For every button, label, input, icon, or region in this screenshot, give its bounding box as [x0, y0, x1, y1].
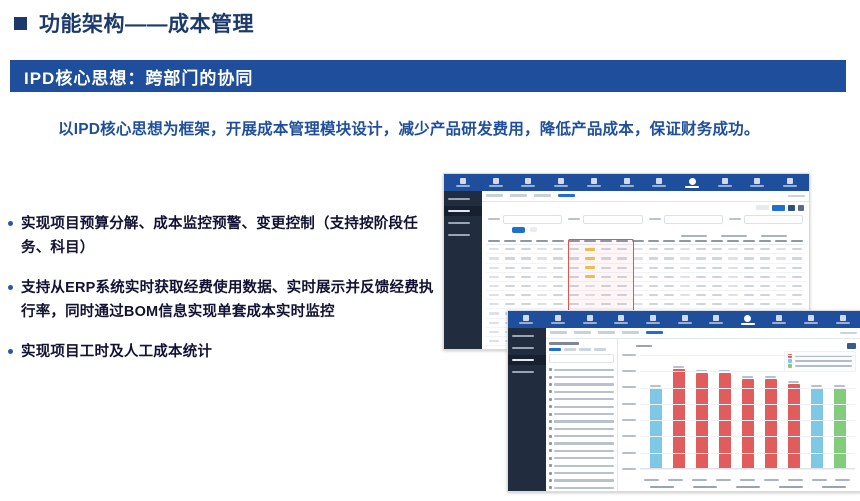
- table-cell: [744, 276, 754, 278]
- filter-input[interactable]: [664, 215, 723, 224]
- tree-item-label: [554, 472, 614, 474]
- table-toolbar: [482, 202, 809, 211]
- table-cell: [664, 267, 674, 269]
- table-cell: [489, 340, 499, 342]
- table-cell: [712, 257, 722, 259]
- table-cell: [760, 303, 770, 305]
- tree-item-label: [554, 435, 614, 437]
- sidebar-item[interactable]: [444, 206, 482, 216]
- table-cell: [585, 275, 595, 278]
- tab[interactable]: [510, 194, 527, 197]
- bar[interactable]: [834, 388, 846, 469]
- table-cell: [680, 267, 690, 269]
- tab[interactable]: [598, 331, 615, 334]
- filter-input[interactable]: [583, 215, 642, 224]
- nav-item[interactable]: [732, 315, 763, 325]
- y-tick-label: [622, 386, 636, 388]
- chart-panel: [618, 339, 860, 491]
- tree-item[interactable]: [549, 366, 614, 373]
- tree-tab[interactable]: [594, 348, 606, 351]
- tree-item-label: [554, 420, 614, 422]
- table-cell: [633, 303, 643, 305]
- tree-item-label: [554, 376, 614, 378]
- tree-item[interactable]: [549, 477, 614, 484]
- tree-item-label: [554, 428, 614, 430]
- table-cell: [760, 267, 770, 269]
- nav-item-label: [521, 185, 535, 187]
- table-cell: [664, 294, 674, 296]
- table-cell: [712, 248, 722, 250]
- bar[interactable]: [765, 379, 777, 469]
- bar-value-label: [650, 385, 661, 387]
- nav-item-label: [489, 185, 503, 187]
- table-cell: [553, 276, 563, 278]
- tree-node-icon: [549, 479, 552, 482]
- nav-item[interactable]: [796, 315, 827, 324]
- column-header: [520, 240, 532, 243]
- table-cell: [776, 303, 786, 305]
- nav-item[interactable]: [606, 315, 637, 324]
- tab[interactable]: [622, 331, 639, 334]
- table-cell: [569, 267, 579, 269]
- reset-button[interactable]: [756, 205, 769, 210]
- tree-item[interactable]: [549, 447, 614, 454]
- tree-node-icon: [549, 420, 552, 423]
- table-cell: [601, 248, 611, 250]
- tree-search-input[interactable]: [549, 354, 614, 363]
- tree-tab[interactable]: [564, 348, 576, 351]
- nav-item[interactable]: [611, 178, 643, 187]
- y-tick-label: [622, 468, 636, 470]
- table-cell: [792, 248, 802, 250]
- table-cell: [601, 294, 611, 296]
- column-header: [536, 240, 548, 243]
- project-tree-panel[interactable]: [546, 339, 618, 491]
- filter-field[interactable]: [568, 215, 642, 224]
- table-cell: [696, 257, 706, 259]
- table-cell: [792, 294, 802, 296]
- x-group-label: [736, 486, 760, 488]
- table-cell: [696, 285, 706, 287]
- column-header: [727, 240, 739, 243]
- app-sidebar: [444, 191, 482, 349]
- nav-item[interactable]: [676, 178, 708, 188]
- table-cell: [696, 267, 706, 269]
- column-header: [584, 240, 596, 243]
- column-header: [648, 240, 660, 243]
- bullet-dot-icon: [8, 285, 13, 290]
- sidebar-item[interactable]: [508, 331, 546, 341]
- sidebar-item[interactable]: [444, 194, 482, 204]
- user-menu-label[interactable]: [840, 332, 857, 335]
- table-cell: [633, 257, 643, 259]
- table-cell: [601, 267, 611, 269]
- table-cell: [712, 276, 722, 278]
- table-cell: [792, 276, 802, 278]
- table-cell: [744, 257, 754, 259]
- tree-item[interactable]: [549, 418, 614, 425]
- table-cell: [696, 294, 706, 296]
- table-row[interactable]: [486, 245, 805, 254]
- table-cell: [696, 248, 706, 250]
- table-cell: [696, 276, 706, 278]
- column-header: [552, 240, 564, 243]
- column-header: [632, 240, 644, 243]
- table-cell: [792, 285, 802, 287]
- sidebar-item[interactable]: [508, 355, 546, 365]
- tree-node-icon: [549, 464, 552, 467]
- sidebar-item-label: [448, 234, 470, 237]
- y-tick-label: [622, 370, 636, 372]
- tree-item[interactable]: [549, 455, 614, 462]
- table-cell: [712, 294, 722, 296]
- table-cell: [760, 257, 770, 259]
- column-group-label: [761, 235, 787, 238]
- table-cell: [537, 257, 547, 259]
- y-tick-label: [622, 452, 636, 454]
- nav-item-icon: [523, 315, 529, 321]
- sidebar-item[interactable]: [444, 230, 482, 240]
- table-cell: [649, 267, 659, 269]
- table-cell: [489, 303, 499, 305]
- table-cell: [569, 303, 579, 305]
- filter-label: [729, 218, 741, 221]
- filter-buttons: [482, 224, 809, 233]
- nav-item-label: [718, 185, 732, 187]
- nav-item[interactable]: [643, 178, 675, 187]
- tab[interactable]: [550, 331, 567, 334]
- column-header: [695, 240, 707, 243]
- table-cell: [585, 285, 595, 287]
- nav-item[interactable]: [764, 315, 795, 324]
- table-cell: [553, 257, 563, 259]
- table-row[interactable]: [486, 300, 805, 309]
- table-cell: [744, 294, 754, 296]
- table-cell: [521, 248, 531, 250]
- sidebar-item[interactable]: [508, 367, 546, 377]
- nav-item[interactable]: [543, 315, 574, 324]
- sidebar-item[interactable]: [508, 343, 546, 353]
- tree-item-label: [554, 383, 614, 385]
- table-cell: [601, 285, 611, 287]
- y-tick-label: [622, 354, 636, 356]
- nav-item-label: [587, 185, 601, 187]
- table-cell: [521, 303, 531, 305]
- tree-panel-title: [549, 342, 579, 345]
- table-cell: [712, 285, 722, 287]
- nav-item[interactable]: [545, 178, 577, 187]
- x-group-label: [693, 486, 717, 488]
- column-header: [504, 240, 516, 243]
- nav-item-icon: [460, 178, 466, 184]
- tab[interactable]: [534, 194, 551, 197]
- nav-item-label: [519, 322, 533, 324]
- nav-item-icon: [787, 178, 793, 184]
- table-cell: [505, 294, 515, 296]
- x-tick-label: [835, 479, 850, 481]
- tab[interactable]: [486, 194, 503, 197]
- tree-node-icon: [549, 405, 552, 408]
- nav-item-icon: [776, 315, 782, 321]
- tree-node-icon: [549, 413, 552, 416]
- nav-item-icon: [558, 178, 564, 184]
- nav-item-icon: [808, 315, 814, 321]
- x-group-label: [650, 486, 674, 488]
- table-cell: [728, 248, 738, 250]
- section-band-text: IPD核心思想：跨部门的协同: [10, 64, 253, 89]
- nav-item[interactable]: [774, 178, 806, 187]
- table-cell: [776, 294, 786, 296]
- nav-item-icon: [525, 178, 531, 184]
- sidebar-item-label: [512, 347, 534, 350]
- table-cell: [633, 294, 643, 296]
- tree-item-label: [554, 457, 614, 459]
- y-tick-label: [622, 435, 636, 437]
- table-cell: [601, 303, 611, 305]
- nav-item-label: [652, 185, 666, 187]
- list-item: 支持从ERP系统实时获取经费使用数据、实时展示并反馈经费执行率，同时通过BOM信…: [8, 276, 438, 324]
- tree-item[interactable]: [549, 469, 614, 476]
- table-cell: [649, 303, 659, 305]
- app-sidebar: [508, 328, 546, 491]
- tree-item[interactable]: [549, 433, 614, 440]
- tree-tab-group[interactable]: [549, 348, 614, 351]
- table-cell: [585, 257, 595, 260]
- column-header: [679, 240, 691, 243]
- nav-item[interactable]: [669, 315, 700, 324]
- table-cell: [776, 285, 786, 287]
- table-cell: [744, 303, 754, 305]
- nav-item-icon: [624, 178, 630, 184]
- filter-field[interactable]: [729, 215, 803, 224]
- nav-item-label: [620, 185, 634, 187]
- table-cell: [537, 276, 547, 278]
- y-axis-label: [636, 345, 652, 348]
- bar[interactable]: [788, 384, 800, 469]
- table-row[interactable]: [486, 291, 805, 300]
- bar[interactable]: [673, 369, 685, 469]
- table-cell: [585, 248, 595, 251]
- slide-root: 功能架构——成本管理 IPD核心思想：跨部门的协同 以IPD核心思想为框架，开展…: [0, 0, 860, 501]
- tree-item[interactable]: [549, 388, 614, 395]
- grid-line: [640, 388, 855, 389]
- tree-item[interactable]: [549, 425, 614, 432]
- tree-node-icon: [549, 457, 552, 460]
- square-bullet-icon: [14, 17, 27, 30]
- tree-item[interactable]: [549, 484, 614, 491]
- table-cell: [521, 257, 531, 259]
- tree-item[interactable]: [549, 381, 614, 388]
- table-cell: [744, 267, 754, 269]
- nav-item-label: [646, 322, 660, 324]
- tab[interactable]: [646, 331, 663, 334]
- filter-input[interactable]: [503, 215, 562, 224]
- table-cell: [585, 303, 595, 305]
- table-cell: [664, 248, 674, 250]
- filter-field[interactable]: [649, 215, 723, 224]
- table-cell: [633, 248, 643, 250]
- bar[interactable]: [811, 388, 823, 469]
- nav-item-label: [614, 322, 628, 324]
- table-cell: [537, 294, 547, 296]
- tab-strip: [482, 191, 809, 202]
- grid-line: [640, 420, 855, 421]
- user-menu-label[interactable]: [788, 195, 805, 198]
- table-cell: [664, 303, 674, 305]
- table-row[interactable]: [486, 254, 805, 263]
- table-cell: [728, 276, 738, 278]
- y-tick-label: [622, 419, 636, 421]
- table-row[interactable]: [486, 273, 805, 282]
- table-cell: [776, 276, 786, 278]
- x-tick-label: [740, 479, 755, 481]
- filter-label: [649, 218, 661, 221]
- bar[interactable]: [742, 379, 754, 469]
- table-cell: [521, 285, 531, 287]
- tree-item[interactable]: [549, 396, 614, 403]
- nav-item[interactable]: [512, 178, 544, 187]
- nav-item[interactable]: [638, 315, 669, 324]
- tree-item[interactable]: [549, 410, 614, 417]
- tree-item[interactable]: [549, 440, 614, 447]
- labor-cost-chart-screenshot: [507, 310, 860, 492]
- nav-item-icon: [650, 315, 656, 321]
- nav-item-label: [554, 185, 568, 187]
- table-cell: [505, 285, 515, 287]
- nav-item[interactable]: [480, 178, 512, 187]
- nav-item[interactable]: [827, 315, 858, 324]
- tree-item-label: [554, 479, 614, 481]
- filter-field[interactable]: [488, 215, 562, 224]
- tree-item[interactable]: [549, 373, 614, 380]
- table-cell: [617, 303, 627, 305]
- table-cell: [792, 257, 802, 259]
- tree-tab[interactable]: [579, 348, 591, 351]
- table-cell: [633, 267, 643, 269]
- reset-filter-button[interactable]: [530, 227, 537, 232]
- table-cell: [728, 285, 738, 287]
- column-header: [600, 240, 612, 243]
- nav-item-label: [709, 322, 723, 324]
- list-item: 实现项目预算分解、成本监控预警、变更控制（支持按阶段任务、科目）: [8, 212, 438, 260]
- column-header: [616, 240, 628, 243]
- table-row[interactable]: [486, 282, 805, 291]
- bullet-text: 实现项目预算分解、成本监控预警、变更控制（支持按阶段任务、科目）: [21, 212, 438, 260]
- sidebar-item-label: [512, 335, 534, 338]
- nav-item-label: [685, 186, 699, 188]
- table-cell: [505, 248, 515, 250]
- column-header: [663, 240, 675, 243]
- table-cell: [521, 276, 531, 278]
- nav-item[interactable]: [578, 178, 610, 187]
- tree-tab[interactable]: [549, 348, 561, 351]
- tab[interactable]: [574, 331, 591, 334]
- table-cell: [553, 294, 563, 296]
- nav-item[interactable]: [511, 315, 542, 324]
- nav-item[interactable]: [447, 178, 479, 187]
- tree-item-label: [554, 391, 614, 393]
- table-cell: [489, 285, 499, 287]
- table-cell: [680, 303, 690, 305]
- list-item: 实现项目工时及人工成本统计: [8, 340, 438, 364]
- table-cell: [601, 276, 611, 278]
- table-cell: [569, 285, 579, 287]
- table-cell: [744, 248, 754, 250]
- table-cell: [617, 267, 627, 269]
- column-header: [775, 240, 787, 243]
- table-cell: [521, 267, 531, 269]
- nav-item[interactable]: [742, 178, 774, 187]
- table-cell: [633, 276, 643, 278]
- tree-node-icon: [549, 472, 552, 475]
- nav-item[interactable]: [701, 315, 732, 324]
- y-tick-label: [622, 403, 636, 405]
- table-cell: [712, 267, 722, 269]
- bullet-text: 支持从ERP系统实时获取经费使用数据、实时展示并反馈经费执行率，同时通过BOM信…: [21, 276, 438, 324]
- chart-type-toggle-icon[interactable]: [847, 343, 856, 349]
- table-cell: [760, 294, 770, 296]
- table-cell: [680, 276, 690, 278]
- x-tick-label: [716, 479, 731, 481]
- nav-item[interactable]: [709, 178, 741, 187]
- table-cell: [649, 285, 659, 287]
- filter-input[interactable]: [744, 215, 803, 224]
- tree-item[interactable]: [549, 403, 614, 410]
- table-cell: [744, 285, 754, 287]
- table-cell: [489, 312, 499, 314]
- table-cell: [505, 267, 515, 269]
- nav-item-label: [772, 322, 786, 324]
- sidebar-item[interactable]: [444, 218, 482, 228]
- nav-item-label: [456, 185, 470, 187]
- table-cell: [664, 257, 674, 259]
- plot-area: [640, 355, 855, 469]
- table-cell: [728, 257, 738, 259]
- table-cell: [505, 257, 515, 259]
- table-cell: [585, 266, 595, 269]
- column-group-label: [681, 235, 707, 238]
- grid-line: [640, 371, 855, 372]
- table-row[interactable]: [486, 264, 805, 273]
- table-cell: [664, 285, 674, 287]
- nav-item-icon: [689, 178, 696, 185]
- bullet-list: 实现项目预算分解、成本监控预警、变更控制（支持按阶段任务、科目） 支持从ERP系…: [8, 212, 438, 380]
- filter-label: [568, 218, 580, 221]
- tab[interactable]: [558, 194, 575, 197]
- nav-item-label: [783, 185, 797, 187]
- tree-item[interactable]: [549, 462, 614, 469]
- table-cell: [617, 285, 627, 287]
- bar[interactable]: [650, 388, 662, 469]
- sidebar-item-label: [512, 371, 534, 374]
- table-cell: [760, 285, 770, 287]
- tree-node-icon: [549, 376, 552, 379]
- table-cell: [792, 303, 802, 305]
- table-cell: [489, 322, 499, 324]
- tree-item-label: [554, 398, 614, 400]
- nav-item-icon: [587, 315, 593, 321]
- table-cell: [505, 303, 515, 305]
- table-cell: [537, 285, 547, 287]
- table-cell: [712, 303, 722, 305]
- tree-item-label: [554, 413, 614, 415]
- table-cell: [553, 248, 563, 250]
- page-title: 功能架构——成本管理: [14, 8, 254, 38]
- tree-node-icon: [549, 442, 552, 445]
- column-header: [488, 240, 500, 243]
- nav-item[interactable]: [574, 315, 605, 324]
- table-cell: [537, 248, 547, 250]
